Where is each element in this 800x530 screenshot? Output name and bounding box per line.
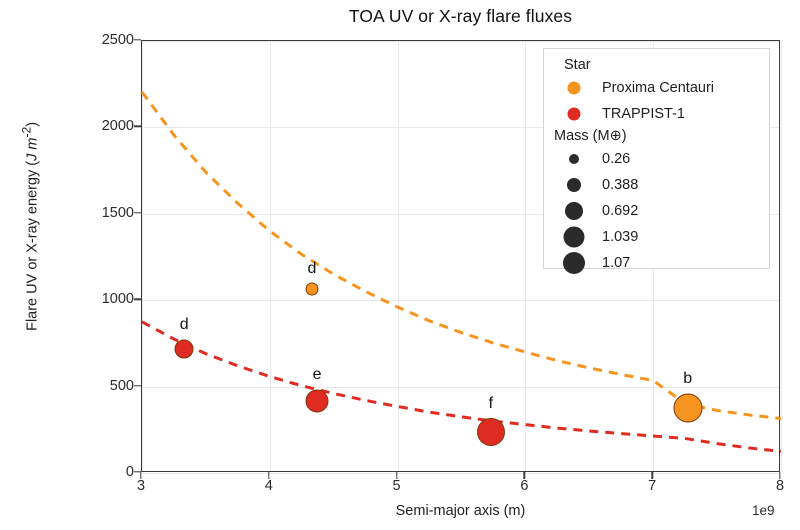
legend-mass-swatch[interactable] [564, 227, 585, 248]
data-point-d[interactable] [175, 339, 194, 358]
x-axis-label: Semi-major axis (m) [141, 503, 780, 519]
data-point-f[interactable] [477, 418, 505, 446]
gridline-vertical [781, 41, 782, 471]
x-tick-mark [268, 472, 269, 479]
x-tick-mark [779, 472, 780, 479]
legend-mass-label[interactable]: 1.07 [602, 255, 630, 271]
y-tick-mark [134, 212, 141, 213]
legend-star-label[interactable]: Proxima Centauri [602, 80, 714, 96]
y-axis-label: Flare UV or X-ray energy (J m-2) [20, 56, 41, 396]
data-point-e[interactable] [306, 389, 329, 412]
data-point-d[interactable] [305, 283, 318, 296]
data-point-label-d: d [180, 316, 189, 334]
legend-star-swatch[interactable] [568, 108, 581, 121]
legend-mass-swatch[interactable] [567, 178, 581, 192]
y-tick-mark [134, 298, 141, 299]
y-tick-label: 1500 [102, 205, 134, 221]
x-tick-label: 6 [520, 478, 528, 494]
x-tick-label: 8 [776, 478, 784, 494]
legend-mass-label[interactable]: 0.388 [602, 177, 638, 193]
x-tick-label: 5 [393, 478, 401, 494]
y-axis-label-suffix: ) [24, 122, 40, 127]
y-tick-mark [134, 126, 141, 127]
legend-star-label[interactable]: TRAPPIST-1 [602, 106, 685, 122]
x-tick-label: 7 [648, 478, 656, 494]
data-point-label-b: b [683, 370, 692, 388]
y-axis-label-unit: J m [24, 138, 40, 161]
legend-star-title: Star [564, 57, 591, 73]
x-tick-mark [140, 472, 141, 479]
y-tick-label: 0 [126, 464, 134, 480]
data-point-label-d: d [308, 260, 317, 278]
legend-mass-label[interactable]: 0.692 [602, 203, 638, 219]
x-tick-label: 3 [137, 478, 145, 494]
legend-mass-swatch[interactable] [563, 252, 585, 274]
y-tick-label: 1000 [102, 291, 134, 307]
y-tick-label: 2500 [102, 32, 134, 48]
legend-mass-swatch[interactable] [565, 202, 583, 220]
y-tick-mark [134, 385, 141, 386]
legend-mass-label[interactable]: 1.039 [602, 229, 638, 245]
y-tick-label: 2000 [102, 118, 134, 134]
chart-title: TOA UV or X-ray flare fluxes [141, 6, 780, 27]
y-tick-label: 500 [110, 378, 134, 394]
x-tick-mark [651, 472, 652, 479]
y-axis-label-exponent: -2 [20, 127, 34, 138]
data-point-label-e: e [313, 366, 322, 384]
legend: Star Proxima CentauriTRAPPIST-1 Mass (M⊕… [543, 48, 770, 269]
legend-mass-swatch[interactable] [569, 154, 579, 164]
x-tick-label: 4 [265, 478, 273, 494]
x-tick-mark [396, 472, 397, 479]
figure-container: TOA UV or X-ray flare fluxes dbdef 05001… [0, 0, 800, 530]
y-tick-mark [134, 39, 141, 40]
x-axis-exponent: 1e9 [752, 503, 775, 518]
legend-mass-title: Mass (M⊕) [554, 128, 627, 144]
gridline-horizontal [142, 473, 779, 474]
legend-mass-label[interactable]: 0.26 [602, 151, 630, 167]
data-point-label-f: f [489, 395, 493, 413]
legend-star-swatch[interactable] [568, 82, 581, 95]
x-tick-mark [524, 472, 525, 479]
y-axis-label-prefix: Flare UV or X-ray energy ( [24, 161, 40, 331]
data-point-b[interactable] [673, 393, 702, 422]
